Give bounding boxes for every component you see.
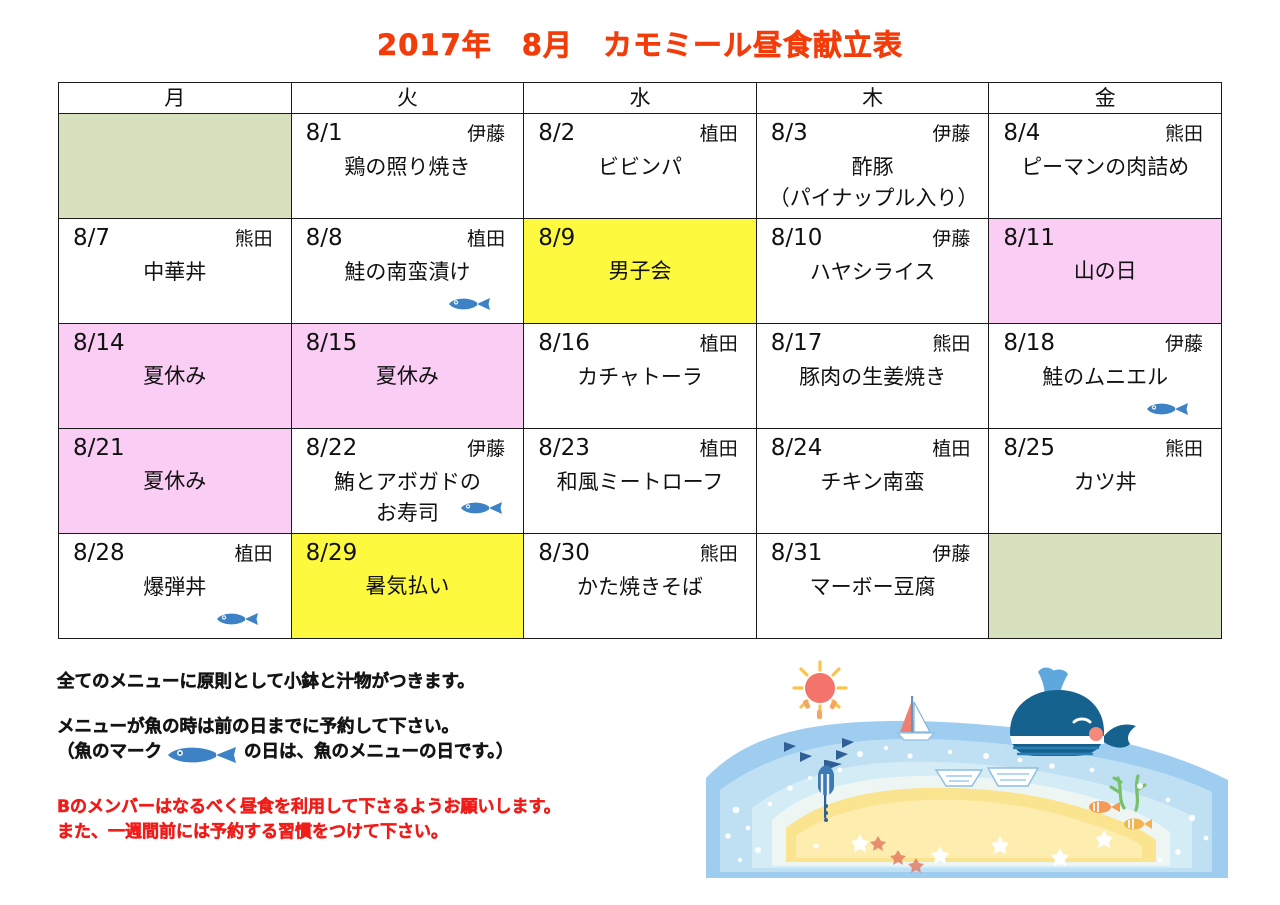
calendar-day-cell[interactable]: 8/4熊田ピーマンの肉詰め — [989, 114, 1222, 219]
day-cook-name: 伊藤 — [932, 119, 974, 149]
day-cell-content: 8/18伊藤鮭のムニエル — [989, 324, 1221, 428]
day-cell-content: 8/28植田爆弾丼 — [59, 534, 291, 638]
calendar-week-row: 8/7熊田中華丼8/8植田鮭の南蛮漬け8/9男子会8/10伊藤ハヤシライス8/1… — [59, 219, 1222, 324]
day-cook-name: 熊田 — [235, 224, 277, 254]
day-header: 8/7熊田 — [69, 223, 281, 254]
day-header: 8/22伊藤 — [302, 433, 514, 464]
day-date: 8/15 — [306, 328, 358, 358]
day-header: 8/28植田 — [69, 538, 281, 569]
day-menu-text: ピーマンの肉詰め — [999, 152, 1211, 183]
day-cell-content: 8/3伊藤酢豚 （パイナップル入り） — [757, 114, 989, 218]
summer-beach-illustration — [700, 660, 1240, 890]
day-header: 8/18伊藤 — [999, 328, 1211, 359]
calendar-day-cell[interactable]: 8/22伊藤鮪とアボガドの お寿司 — [291, 429, 524, 534]
fish-icon — [447, 295, 493, 313]
day-header: 8/17熊田 — [767, 328, 979, 359]
day-date: 8/11 — [1003, 223, 1055, 253]
day-cell-content: 8/7熊田中華丼 — [59, 219, 291, 323]
note-spacer — [57, 695, 697, 715]
calendar-day-cell[interactable]: 8/2植田ビビンパ — [524, 114, 757, 219]
day-date: 8/18 — [1003, 328, 1055, 358]
calendar-day-cell[interactable]: 8/3伊藤酢豚 （パイナップル入り） — [756, 114, 989, 219]
day-header: 8/29 — [302, 538, 514, 568]
calendar-day-cell[interactable]: 8/10伊藤ハヤシライス — [756, 219, 989, 324]
fish-icon — [459, 499, 505, 517]
day-header: 8/10伊藤 — [767, 223, 979, 254]
calendar-week-row: 8/1伊藤鶏の照り焼き8/2植田ビビンパ8/3伊藤酢豚 （パイナップル入り）8/… — [59, 114, 1222, 219]
calendar-empty-cell[interactable] — [59, 114, 292, 219]
note-fish-legend-suffix: の日は、魚のメニューの日です。） — [244, 740, 514, 765]
weekday-header-mon: 月 — [59, 83, 292, 114]
day-menu-text: 酢豚 （パイナップル入り） — [767, 152, 979, 214]
fish-icon — [215, 610, 261, 628]
day-cook-name: 伊藤 — [1165, 329, 1207, 359]
day-date: 8/10 — [771, 223, 823, 253]
day-cell-content: 8/16植田カチャトーラ — [524, 324, 756, 428]
day-cook-name: 伊藤 — [932, 539, 974, 569]
weekday-header-thu: 木 — [756, 83, 989, 114]
weekday-header-wed: 水 — [524, 83, 757, 114]
day-header: 8/8植田 — [302, 223, 514, 254]
day-date: 8/4 — [1003, 118, 1040, 148]
calendar-day-cell[interactable]: 8/23植田和風ミートローフ — [524, 429, 757, 534]
day-cook-name: 植田 — [700, 434, 742, 464]
day-cook-name: 伊藤 — [932, 224, 974, 254]
day-cell-content: 8/10伊藤ハヤシライス — [757, 219, 989, 323]
day-menu-text: 鮪とアボガドの お寿司 — [302, 467, 514, 529]
day-header: 8/24植田 — [767, 433, 979, 464]
day-cell-content: 8/25熊田カツ丼 — [989, 429, 1221, 533]
day-date: 8/23 — [538, 433, 590, 463]
sailboat-icon — [898, 696, 934, 740]
day-date: 8/24 — [771, 433, 823, 463]
day-menu-text: 鮭の南蛮漬け — [302, 257, 514, 288]
day-cook-name: 植田 — [932, 434, 974, 464]
day-menu-text: 山の日 — [999, 256, 1211, 287]
calendar-week-row: 8/21夏休み8/22伊藤鮪とアボガドの お寿司8/23植田和風ミートローフ8/… — [59, 429, 1222, 534]
note-reserve-week-ahead: また、一週間前には予約する習慣をつけて下さい。 — [57, 820, 717, 845]
weekday-header-fri: 金 — [989, 83, 1222, 114]
calendar-day-cell[interactable]: 8/17熊田豚肉の生姜焼き — [756, 324, 989, 429]
day-header: 8/31伊藤 — [767, 538, 979, 569]
day-date: 8/30 — [538, 538, 590, 568]
day-menu-text: かた焼きそば — [534, 572, 746, 603]
day-menu-text: 和風ミートローフ — [534, 467, 746, 498]
calendar-day-cell[interactable]: 8/1伊藤鶏の照り焼き — [291, 114, 524, 219]
day-date: 8/14 — [73, 328, 125, 358]
day-header: 8/30熊田 — [534, 538, 746, 569]
calendar-day-cell[interactable]: 8/15夏休み — [291, 324, 524, 429]
day-date: 8/25 — [1003, 433, 1055, 463]
day-cook-name: 植田 — [235, 539, 277, 569]
calendar-week-row: 8/14夏休み8/15夏休み8/16植田カチャトーラ8/17熊田豚肉の生姜焼き8… — [59, 324, 1222, 429]
day-cook-name: 熊田 — [1165, 119, 1207, 149]
day-header: 8/23植田 — [534, 433, 746, 464]
whale-icon — [1010, 668, 1136, 757]
day-cook-name: 伊藤 — [467, 119, 509, 149]
day-cell-content — [59, 114, 291, 218]
calendar-day-cell[interactable]: 8/28植田爆弾丼 — [59, 534, 292, 639]
day-cook-name: 熊田 — [700, 539, 742, 569]
weekday-header-tue: 火 — [291, 83, 524, 114]
calendar-day-cell[interactable]: 8/11山の日 — [989, 219, 1222, 324]
day-header: 8/4熊田 — [999, 118, 1211, 149]
day-date: 8/2 — [538, 118, 575, 148]
day-menu-text: ビビンパ — [534, 152, 746, 183]
calendar-day-cell[interactable]: 8/18伊藤鮭のムニエル — [989, 324, 1222, 429]
day-date: 8/31 — [771, 538, 823, 568]
day-menu-text: ハヤシライス — [767, 257, 979, 288]
day-menu-text: 夏休み — [69, 466, 281, 497]
page-title: 2017年 8月 カモミール昼食献立表 — [0, 22, 1280, 64]
day-date: 8/8 — [306, 223, 343, 253]
calendar-header-row: 月 火 水 木 金 — [59, 83, 1222, 114]
day-menu-text: 夏休み — [302, 361, 514, 392]
day-menu-text: チキン南蛮 — [767, 467, 979, 498]
day-date: 8/22 — [306, 433, 358, 463]
day-header: 8/9 — [534, 223, 746, 253]
day-menu-text: 夏休み — [69, 361, 281, 392]
day-header: 8/15 — [302, 328, 514, 358]
day-cell-content: 8/30熊田かた焼きそば — [524, 534, 756, 638]
notes-block: 全てのメニューに原則として小鉢と汁物がつきます。 メニューが魚の時は前の日までに… — [57, 670, 697, 765]
day-cell-content: 8/11山の日 — [989, 219, 1221, 323]
day-menu-text: 中華丼 — [69, 257, 281, 288]
day-menu-text: カツ丼 — [999, 467, 1211, 498]
day-cell-content: 8/15夏休み — [292, 324, 524, 428]
note-side-dishes: 全てのメニューに原則として小鉢と汁物がつきます。 — [57, 670, 697, 695]
day-cook-name: 植田 — [700, 329, 742, 359]
note-b-members: Bのメンバーはなるべく昼食を利用して下さるようお願いします。 — [57, 795, 717, 820]
day-cook-name: 植田 — [700, 119, 742, 149]
calendar-day-cell[interactable]: 8/9男子会 — [524, 219, 757, 324]
day-date: 8/9 — [538, 223, 575, 253]
calendar-day-cell[interactable]: 8/25熊田カツ丼 — [989, 429, 1222, 534]
calendar-day-cell[interactable]: 8/31伊藤マーボー豆腐 — [756, 534, 989, 639]
sun-icon — [794, 662, 846, 719]
day-cook-name: 植田 — [467, 224, 509, 254]
day-header: 8/1伊藤 — [302, 118, 514, 149]
day-date: 8/7 — [73, 223, 110, 253]
calendar-empty-cell[interactable] — [989, 534, 1222, 639]
note-fish-legend-prefix: （魚のマーク — [57, 740, 162, 765]
day-menu-text: 鶏の照り焼き — [302, 152, 514, 183]
day-header: 8/25熊田 — [999, 433, 1211, 464]
calendar-table: 月 火 水 木 金 8/1伊藤鶏の照り焼き8/2植田ビビンパ8/3伊藤酢豚 （パ… — [58, 82, 1222, 639]
day-header: 8/11 — [999, 223, 1211, 253]
calendar-week-row: 8/28植田爆弾丼8/29暑気払い8/30熊田かた焼きそば8/31伊藤マーボー豆… — [59, 534, 1222, 639]
day-cell-content: 8/22伊藤鮪とアボガドの お寿司 — [292, 429, 524, 533]
day-cell-content: 8/24植田チキン南蛮 — [757, 429, 989, 533]
fish-icon — [1145, 400, 1191, 418]
day-header: 8/3伊藤 — [767, 118, 979, 149]
calendar-day-cell[interactable]: 8/21夏休み — [59, 429, 292, 534]
calendar-day-cell[interactable]: 8/8植田鮭の南蛮漬け — [291, 219, 524, 324]
day-cell-content: 8/21夏休み — [59, 429, 291, 533]
day-date: 8/21 — [73, 433, 125, 463]
day-cell-content: 8/17熊田豚肉の生姜焼き — [757, 324, 989, 428]
day-date: 8/17 — [771, 328, 823, 358]
menu-calendar: 月 火 水 木 金 8/1伊藤鶏の照り焼き8/2植田ビビンパ8/3伊藤酢豚 （パ… — [58, 82, 1222, 639]
day-menu-text: 爆弾丼 — [69, 572, 281, 603]
notes-red-block: Bのメンバーはなるべく昼食を利用して下さるようお願いします。 また、一週間前には… — [57, 795, 717, 845]
day-menu-text: 男子会 — [534, 256, 746, 287]
day-cell-content: 8/1伊藤鶏の照り焼き — [292, 114, 524, 218]
day-menu-text: カチャトーラ — [534, 362, 746, 393]
day-menu-text: 豚肉の生姜焼き — [767, 362, 979, 393]
day-menu-text: マーボー豆腐 — [767, 572, 979, 603]
calendar-day-cell[interactable]: 8/30熊田かた焼きそば — [524, 534, 757, 639]
calendar-body: 8/1伊藤鶏の照り焼き8/2植田ビビンパ8/3伊藤酢豚 （パイナップル入り）8/… — [59, 114, 1222, 639]
day-header: 8/2植田 — [534, 118, 746, 149]
day-cell-content: 8/23植田和風ミートローフ — [524, 429, 756, 533]
day-header: 8/21 — [69, 433, 281, 463]
day-cell-content: 8/4熊田ピーマンの肉詰め — [989, 114, 1221, 218]
day-header: 8/14 — [69, 328, 281, 358]
day-header: 8/16植田 — [534, 328, 746, 359]
calendar-day-cell[interactable]: 8/7熊田中華丼 — [59, 219, 292, 324]
calendar-day-cell[interactable]: 8/16植田カチャトーラ — [524, 324, 757, 429]
day-date: 8/1 — [306, 118, 343, 148]
day-menu-text: 暑気払い — [302, 571, 514, 602]
day-cook-name: 伊藤 — [467, 434, 509, 464]
day-menu-text: 鮭のムニエル — [999, 362, 1211, 393]
day-date: 8/28 — [73, 538, 125, 568]
note-fish-legend: （魚のマーク の日は、魚のメニューの日です。） — [57, 740, 697, 765]
calendar-day-cell[interactable]: 8/29暑気払い — [291, 534, 524, 639]
day-date: 8/29 — [306, 538, 358, 568]
day-cook-name: 熊田 — [1165, 434, 1207, 464]
day-cook-name: 熊田 — [932, 329, 974, 359]
calendar-day-cell[interactable]: 8/14夏休み — [59, 324, 292, 429]
day-cell-content: 8/2植田ビビンパ — [524, 114, 756, 218]
day-cell-content: 8/31伊藤マーボー豆腐 — [757, 534, 989, 638]
day-cell-content: 8/8植田鮭の南蛮漬け — [292, 219, 524, 323]
day-date: 8/3 — [771, 118, 808, 148]
calendar-day-cell[interactable]: 8/24植田チキン南蛮 — [756, 429, 989, 534]
day-date: 8/16 — [538, 328, 590, 358]
day-cell-content — [989, 534, 1221, 638]
day-cell-content: 8/9男子会 — [524, 219, 756, 323]
fish-icon — [164, 743, 242, 767]
day-cell-content: 8/14夏休み — [59, 324, 291, 428]
day-cell-content: 8/29暑気払い — [292, 534, 524, 638]
note-fish-reservation: メニューが魚の時は前の日までに予約して下さい。 — [57, 715, 697, 740]
